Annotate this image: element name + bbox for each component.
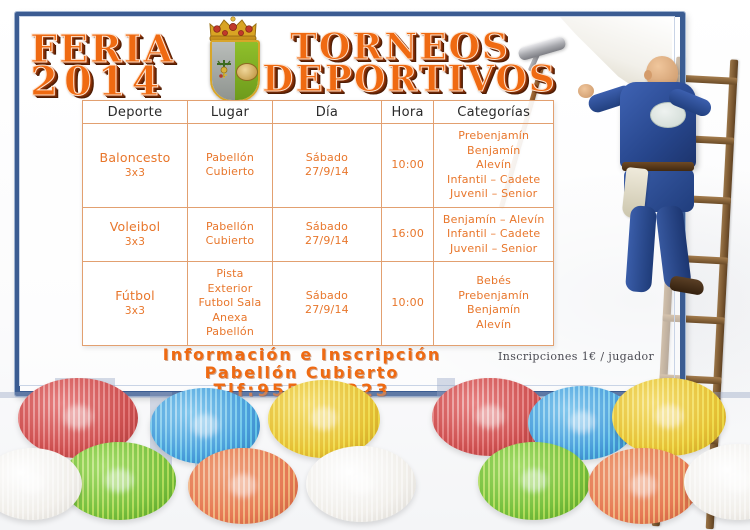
- column-header-hora: Hora: [381, 101, 434, 124]
- crown-icon: [208, 16, 258, 42]
- info-heading: Información e Inscripción: [122, 345, 482, 364]
- column-header-dia: Día: [272, 101, 381, 124]
- table-row: Baloncesto 3x3 PabellónCubierto Sábado27…: [83, 124, 554, 208]
- lantern: [588, 448, 698, 524]
- cell-place: PabellónCubierto: [188, 124, 273, 208]
- tree-and-key-icon: [215, 57, 233, 79]
- cell-time: 10:00: [381, 262, 434, 346]
- gold-ring-icon: [236, 63, 258, 81]
- cell-categories: BebésPrebenjamínBenjamínAlevín: [434, 262, 554, 346]
- lantern: [306, 446, 416, 522]
- cell-sport: Baloncesto 3x3: [83, 124, 188, 208]
- lantern: [188, 448, 298, 524]
- shield-right-field: [235, 42, 258, 100]
- sport-name: Fútbol: [85, 288, 185, 305]
- sport-format: 3x3: [85, 305, 185, 319]
- shield-left-field: [212, 42, 235, 100]
- sport-format: 3x3: [85, 167, 185, 181]
- painter-figure: [600, 38, 720, 288]
- info-venue: Pabellón Cubierto: [122, 363, 482, 382]
- sport-format: 3x3: [85, 236, 185, 250]
- title-deportivos: DEPORTIVOS: [262, 58, 557, 100]
- cell-time: 10:00: [381, 124, 434, 208]
- title-year: 2014: [30, 58, 165, 105]
- column-header-lugar: Lugar: [188, 101, 273, 124]
- sport-name: Baloncesto: [85, 150, 185, 167]
- cell-categories: PrebenjamínBenjamínAlevínInfantil – Cade…: [434, 124, 554, 208]
- painter-ear: [644, 70, 652, 80]
- column-header-deporte: Deporte: [83, 101, 188, 124]
- coat-of-arms-icon: [200, 16, 266, 100]
- table-header-row: Deporte Lugar Día Hora Categorías: [83, 101, 554, 124]
- lantern: [612, 378, 726, 456]
- painter-left-leg: [625, 205, 657, 293]
- registration-fee-note: Inscripciones 1€ / jugador: [498, 350, 654, 363]
- cell-sport: Voleibol 3x3: [83, 207, 188, 262]
- cell-categories: Benjamín – AlevínInfantil – CadeteJuveni…: [434, 207, 554, 262]
- cell-day: Sábado27/9/14: [272, 124, 381, 208]
- sport-name: Voleibol: [85, 219, 185, 236]
- schedule-table: Deporte Lugar Día Hora Categorías Balonc…: [82, 100, 554, 346]
- table-row: Voleibol 3x3 PabellónCubierto Sábado27/9…: [83, 207, 554, 262]
- painter-left-hand: [578, 84, 594, 98]
- column-header-categorias: Categorías: [434, 101, 554, 124]
- shield-icon: [210, 40, 260, 102]
- table-row: Fútbol 3x3 PistaExteriorFutbol SalaAnexa…: [83, 262, 554, 346]
- cell-sport: Fútbol 3x3: [83, 262, 188, 346]
- cell-day: Sábado27/9/14: [272, 262, 381, 346]
- lantern: [478, 442, 590, 520]
- cell-place: PabellónCubierto: [188, 207, 273, 262]
- poster-canvas: FERIA 2014 TORNEOS DEPORTIVOS: [0, 0, 750, 530]
- cell-place: PistaExteriorFutbol SalaAnexaPabellón: [188, 262, 273, 346]
- cell-day: Sábado27/9/14: [272, 207, 381, 262]
- cell-time: 16:00: [381, 207, 434, 262]
